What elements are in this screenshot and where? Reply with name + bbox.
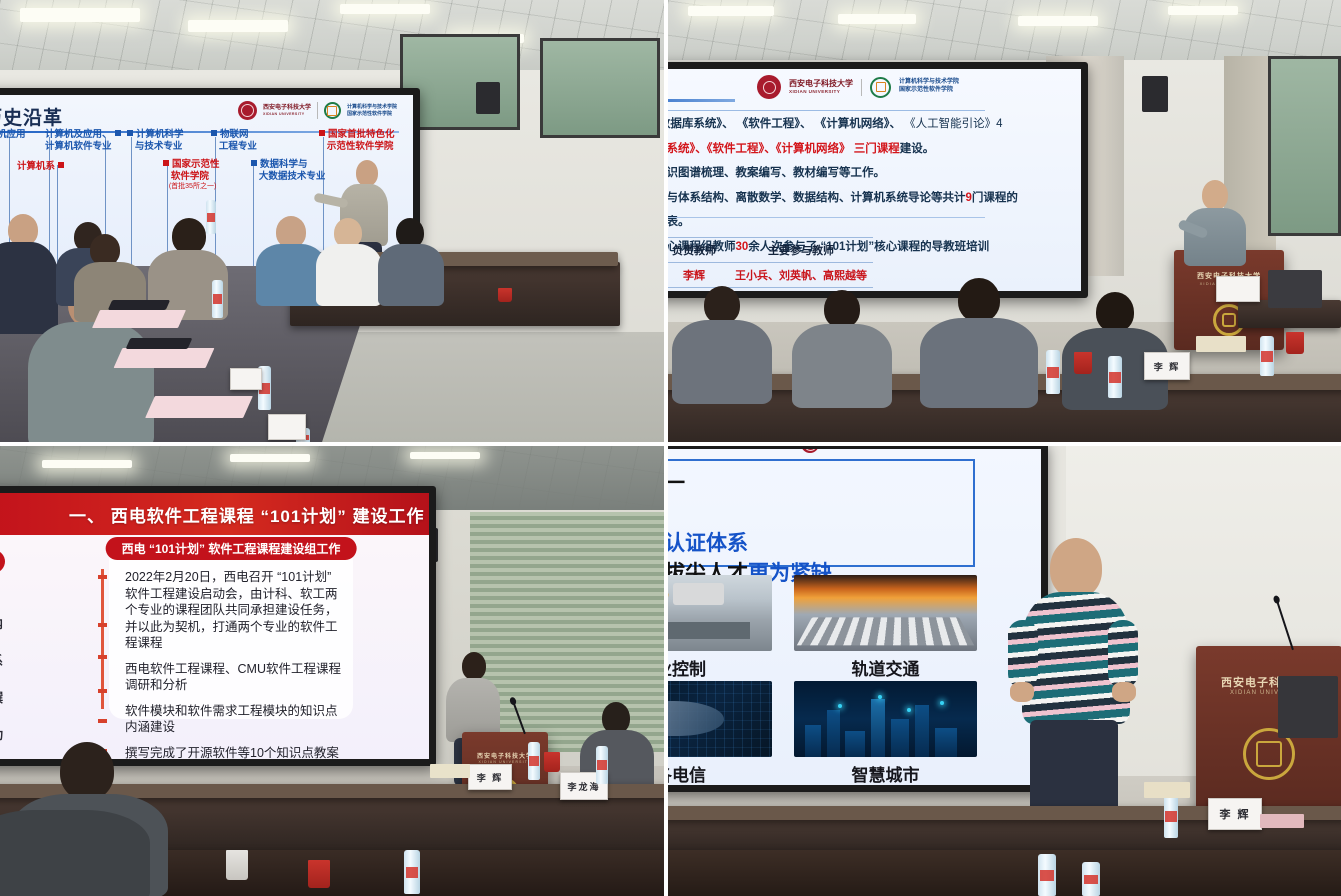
school-emblem-icon <box>324 102 341 119</box>
paper-cup <box>498 288 512 302</box>
nameplate-bl-1: 李 辉 <box>468 764 512 790</box>
torso <box>378 244 444 306</box>
card-title: 西电 “101计划” 软件工程课程建设组工作 <box>106 537 357 560</box>
nameplate <box>230 368 262 390</box>
device <box>108 300 170 310</box>
timeline-label: 国家首批特色化 示范性软件学院 <box>319 129 395 153</box>
foreground-table <box>668 850 1341 896</box>
slide-101-plan: 一、 西电软件工程课程 “101计划” 建设工作 组 科 二程国内 口识体系 点… <box>0 493 429 759</box>
table-row: 术学院 李辉 王小兵、刘英帆、高熙越等 <box>668 263 873 288</box>
water-bottle <box>206 200 216 234</box>
ceiling-light <box>838 14 916 24</box>
ceiling-light <box>410 452 480 459</box>
document-paper <box>430 764 470 778</box>
ceiling-light <box>1018 16 1098 26</box>
meeting-room-3: 一、 西电软件工程课程 “101计划” 建设工作 组 科 二程国内 口识体系 点… <box>0 446 664 896</box>
screen-surface: 西安电子科技大学 XIDIAN UNIVERSITY 计算机科学与技术学院 国家… <box>668 69 1081 291</box>
domain-cell: 轨道交通 <box>794 575 977 671</box>
wall-speaker <box>476 82 500 114</box>
slide-logos: 西安电子科技大学 XIDIAN UNIVERSITY 计算机科学与技术学院 国家… <box>238 101 397 120</box>
meeting-room-4: 西安电子科技大学 XIDIAN UNIVERSITY 技术之一 出软件 培训和认… <box>668 446 1341 896</box>
slide-rule <box>668 99 735 102</box>
domain-image-grid: 业控制 轨道交通 各电信 <box>668 575 977 777</box>
rail-tick <box>98 575 107 579</box>
speaker-person <box>1178 180 1252 290</box>
logo-divider <box>317 102 318 119</box>
left-item: 点教案撰 <box>0 690 73 707</box>
slide-header-bar: 一、 西电软件工程课程 “101计划” 建设工作 <box>0 493 429 535</box>
document-paper <box>1260 814 1304 828</box>
device <box>126 338 193 349</box>
paper-cup <box>226 850 248 880</box>
water-bottle <box>1046 350 1060 394</box>
water-bottle <box>212 280 223 318</box>
timeline-label: 计算机系 <box>17 161 64 173</box>
cell-members: 王小兵、刘英帆、高熙越等 <box>729 263 873 288</box>
document-paper <box>114 348 215 368</box>
head <box>958 278 1000 322</box>
head <box>356 160 378 186</box>
ceiling-light <box>42 460 132 468</box>
paper-cup <box>1074 352 1092 374</box>
head <box>1050 538 1102 598</box>
slide-divider <box>668 217 985 218</box>
screen-surface: 西安电子科技大学 XIDIAN UNIVERSITY 技术之一 出软件 培训和认… <box>668 449 1041 785</box>
head <box>1096 292 1134 332</box>
left-item: 二程国内 <box>0 616 73 633</box>
nameplate <box>1216 276 1260 302</box>
cell-lead: 李辉 <box>668 263 729 288</box>
legs <box>1030 720 1118 820</box>
card-item: 2022年2月20日，西电召开 “101计划” 软件工程建设启动会，由计科、软工… <box>125 569 345 652</box>
photo-collage: 历史沿革 西安电子科技大学 XIDIAN UNIVERSITY 计算机科 <box>0 0 1341 896</box>
school-name: 计算机科学与技术学院 国家示范性软件学院 <box>899 79 959 95</box>
meeting-room-2: 西安电子科技大学 XIDIAN UNIVERSITY 计算机科学与技术学院 国家… <box>668 0 1341 442</box>
document-paper <box>1144 782 1190 798</box>
slide-title: 历史沿革 <box>0 103 63 130</box>
left-item: 口识体系 <box>0 653 73 670</box>
nameplate <box>268 414 306 440</box>
slide-logos: 西安电子科技大学 XIDIAN UNIVERSITY <box>801 449 875 453</box>
meeting-room-1: 历史沿革 西安电子科技大学 XIDIAN UNIVERSITY 计算机科 <box>0 0 664 442</box>
slide-line: 了《数据库系统》、《软件工程》、《计算机网络》 三门课程建设。 <box>668 142 985 158</box>
equipment-cabinet <box>1278 676 1338 738</box>
left-hand <box>1010 682 1034 702</box>
telecom-image <box>668 681 772 757</box>
slide-application-domains: 西安电子科技大学 XIDIAN UNIVERSITY 技术之一 出软件 培训和认… <box>668 449 1041 785</box>
window <box>1268 56 1341 236</box>
water-bottle <box>596 746 608 784</box>
attendee-person <box>926 278 1032 402</box>
card-item: 软件模块和软件需求工程模块的知识点内涵建设 <box>125 703 345 736</box>
ceiling-light <box>688 6 774 16</box>
torso <box>316 244 382 306</box>
slide-logos: 西安电子科技大学 XIDIAN UNIVERSITY 计算机科学与技术学院 国家… <box>757 75 959 99</box>
domain-caption: 轨道交通 <box>794 655 977 680</box>
domain-cell: 业控制 <box>668 575 772 671</box>
slide-line: 计算机组成与体系结构、离散数学、数据结构、计算机系统导论等共计9门课程的 <box>668 191 985 207</box>
head <box>1202 180 1228 210</box>
rail-tick <box>98 623 107 627</box>
card-items: 2022年2月20日，西电召开 “101计划” 软件工程建设启动会，由计科、软工… <box>125 569 345 759</box>
right-hand <box>1112 682 1136 702</box>
left-item: 科 <box>0 579 73 596</box>
torso <box>792 324 892 408</box>
slide-line: 的调研、知识图谱梳理、教案编写、教材编写等工作。 <box>668 166 985 182</box>
presentation-screen-4: 西安电子科技大学 XIDIAN UNIVERSITY 技术之一 出软件 培训和认… <box>668 446 1048 792</box>
teacher-table: 负责教师 主要参与教师 术学院 李辉 王小兵、刘英帆、高熙越等 术学院 李青山 <box>668 237 873 291</box>
water-bottle <box>528 742 540 780</box>
attendee-person <box>796 290 888 402</box>
timeline-rail <box>101 569 104 709</box>
timeline-label: 计算机应用专业 <box>0 129 26 153</box>
slide-line: 计划” 《数据库系统》、 《软件工程》、 《计算机网络》、 《人工智能引论》4 <box>668 117 985 133</box>
head <box>60 742 114 800</box>
slide-left-pill: 组 <box>0 550 5 573</box>
rail-tick <box>98 689 107 693</box>
ceiling-light <box>340 4 430 14</box>
wall-speaker <box>1142 76 1168 112</box>
head <box>462 652 486 680</box>
domain-caption: 各电信 <box>668 761 772 785</box>
industrial-control-image <box>668 575 772 651</box>
paper-cup <box>544 752 560 772</box>
domain-caption: 智慧城市 <box>794 761 977 785</box>
domain-caption: 业控制 <box>668 655 772 680</box>
paper-cup <box>1286 332 1304 354</box>
nameplate-text: 李 辉 <box>1219 806 1250 822</box>
slide-left-list: 科 二程国内 口识体系 点教案撰 力以推动 果的宣 <box>0 579 73 759</box>
slide-line: 培训和认证体系 <box>668 527 748 557</box>
presentation-screen-2: 西安电子科技大学 XIDIAN UNIVERSITY 计算机科学与技术学院 国家… <box>668 62 1088 298</box>
document-paper <box>1196 336 1246 352</box>
paper-cup <box>308 860 330 888</box>
ceiling-light <box>1168 6 1238 15</box>
right-arm <box>1108 620 1138 688</box>
attendee-person <box>0 810 140 896</box>
left-arm <box>1008 620 1038 688</box>
card-item: 西电软件工程课程、CMU软件工程课程调研和分析 <box>125 661 345 694</box>
water-bottle <box>1108 356 1122 398</box>
table-header-row: 负责教师 主要参与教师 <box>668 238 873 263</box>
timeline-label: 物联网 工程专业 <box>211 129 257 153</box>
nameplate-text: 李 辉 <box>1154 360 1181 373</box>
university-seal-icon <box>801 449 819 453</box>
collage-panel-bottom-right: 西安电子科技大学 XIDIAN UNIVERSITY 技术之一 出软件 培训和认… <box>668 446 1341 896</box>
presentation-screen-3: 一、 西电软件工程课程 “101计划” 建设工作 组 科 二程国内 口识体系 点… <box>0 486 436 766</box>
document-paper <box>92 310 186 328</box>
attendee-person <box>258 216 324 302</box>
attendee-person <box>380 218 442 304</box>
water-bottle <box>1082 862 1100 896</box>
nameplate-tr: 李 辉 <box>1144 352 1190 380</box>
nameplate-br: 李 辉 <box>1208 798 1262 830</box>
col-lead: 负责教师 <box>668 238 729 263</box>
ceiling-light <box>230 454 310 462</box>
slide-header-title: 一、 西电软件工程课程 “101计划” 建设工作 <box>69 502 425 527</box>
head <box>704 286 740 324</box>
window <box>540 38 660 138</box>
collage-panel-top-right: 西安电子科技大学 XIDIAN UNIVERSITY 计算机科学与技术学院 国家… <box>668 0 1341 446</box>
university-name: 西安电子科技大学 XIDIAN UNIVERSITY <box>827 449 875 450</box>
timeline-label: 计算机及应用、计算机软件专业 <box>45 129 121 153</box>
document-paper <box>145 396 253 418</box>
equipment-cabinet <box>1268 270 1322 308</box>
screen-surface: 一、 西电软件工程课程 “101计划” 建设工作 组 科 二程国内 口识体系 点… <box>0 493 429 759</box>
rail-tick <box>98 655 107 659</box>
rail-transit-image <box>794 575 977 651</box>
water-bottle <box>404 850 420 894</box>
ceiling-light <box>188 20 288 32</box>
logo-divider <box>861 79 862 96</box>
domain-cell: 各电信 <box>668 681 772 777</box>
torso <box>920 318 1038 408</box>
smart-city-image <box>794 681 977 757</box>
slide-course-construction: 西安电子科技大学 XIDIAN UNIVERSITY 计算机科学与技术学院 国家… <box>668 69 1081 291</box>
head <box>172 218 206 254</box>
attendee-person <box>676 286 766 398</box>
torso <box>1184 208 1246 266</box>
collage-panel-top-left: 历史沿革 西安电子科技大学 XIDIAN UNIVERSITY 计算机科 <box>0 0 668 446</box>
torso <box>672 320 772 404</box>
water-bottle <box>1164 794 1178 838</box>
university-seal-icon <box>238 101 257 120</box>
school-emblem-icon <box>870 77 891 98</box>
timeline-label: 国家示范性 软件学院 (首批35所之一) <box>163 159 220 192</box>
university-name: 西安电子科技大学 XIDIAN UNIVERSITY <box>789 79 853 95</box>
ceiling-light <box>20 8 140 22</box>
torso <box>0 810 150 896</box>
school-name: 计算机科学与技术学院 国家示范性软件学院 <box>347 104 397 117</box>
university-name: 西安电子科技大学 XIDIAN UNIVERSITY <box>263 105 311 117</box>
speaker-person <box>1008 538 1138 818</box>
university-seal-icon <box>757 75 781 99</box>
slide-content-card: 西电 “101计划” 软件工程课程建设组工作 2022年2月20日，西电召 <box>109 547 353 719</box>
head <box>824 290 860 328</box>
col-members: 主要参与教师 <box>729 238 873 263</box>
water-bottle <box>1038 854 1056 896</box>
collage-panel-bottom-left: 一、 西电软件工程课程 “101计划” 建设工作 组 科 二程国内 口识体系 点… <box>0 446 668 896</box>
slide-line: 技术之一 <box>668 467 685 497</box>
water-bottle <box>1260 336 1274 376</box>
timeline-label: 计算机科学 与技术专业 <box>127 129 184 153</box>
nameplate-text: 李 辉 <box>477 771 504 784</box>
card-item: 撰写完成了开源软件等10个知识点教案 <box>125 745 345 760</box>
domain-cell: 智慧城市 <box>794 681 977 777</box>
rail-tick <box>98 719 107 723</box>
timeline-label: 数据科学与 大数据技术专业 <box>251 159 325 183</box>
slide-rule <box>668 110 985 111</box>
attendee-person <box>318 218 380 304</box>
